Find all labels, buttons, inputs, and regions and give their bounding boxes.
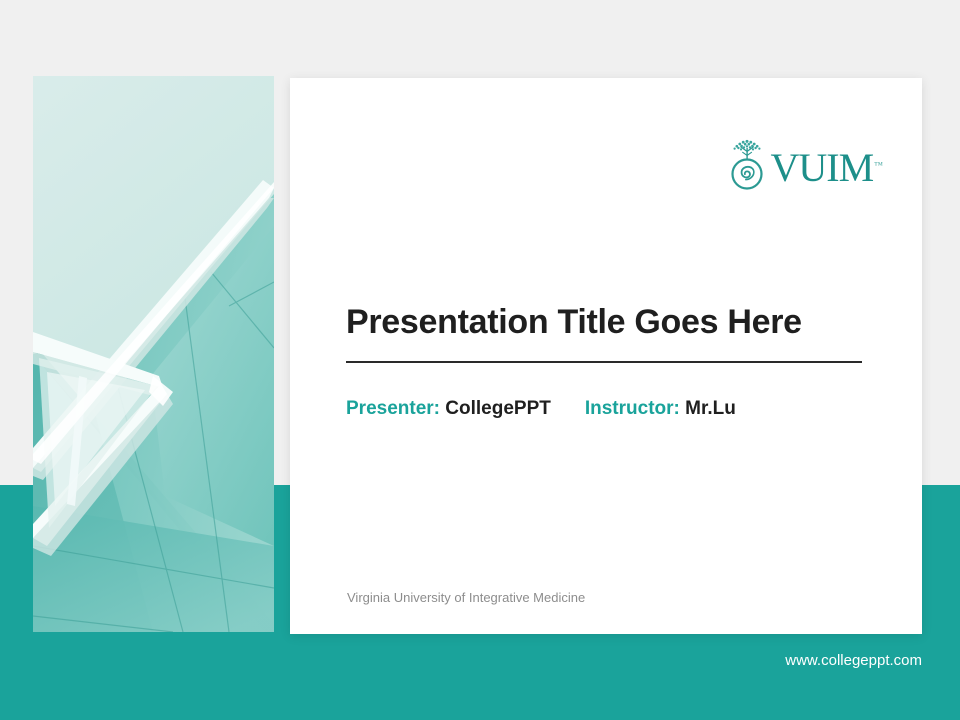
- presenter-label: Presenter:: [346, 398, 440, 419]
- content-card: VUIM ™ Presentation Title Goes Here Pres…: [290, 78, 922, 634]
- instructor-label: Instructor:: [585, 398, 680, 419]
- vuim-logo[interactable]: VUIM ™: [724, 136, 883, 192]
- title-block: Presentation Title Goes Here: [346, 303, 864, 363]
- presentation-slide: VUIM ™ Presentation Title Goes Here Pres…: [0, 0, 960, 720]
- cover-photo: [33, 76, 274, 632]
- title-divider: [346, 361, 862, 363]
- presenter-value: CollegePPT: [445, 398, 551, 419]
- logo-wordmark: VUIM: [771, 148, 874, 188]
- instructor-value: Mr.Lu: [685, 398, 736, 419]
- page-title: Presentation Title Goes Here: [346, 303, 864, 342]
- presenter-instructor-line: Presenter: CollegePPTInstructor: Mr.Lu: [346, 398, 736, 420]
- organization-name: Virginia University of Integrative Medic…: [347, 590, 585, 605]
- cover-photo-artwork: [33, 76, 274, 632]
- trademark-symbol: ™: [874, 160, 883, 170]
- website-url[interactable]: www.collegeppt.com: [785, 652, 922, 669]
- tree-circle-emblem-icon: [724, 136, 770, 192]
